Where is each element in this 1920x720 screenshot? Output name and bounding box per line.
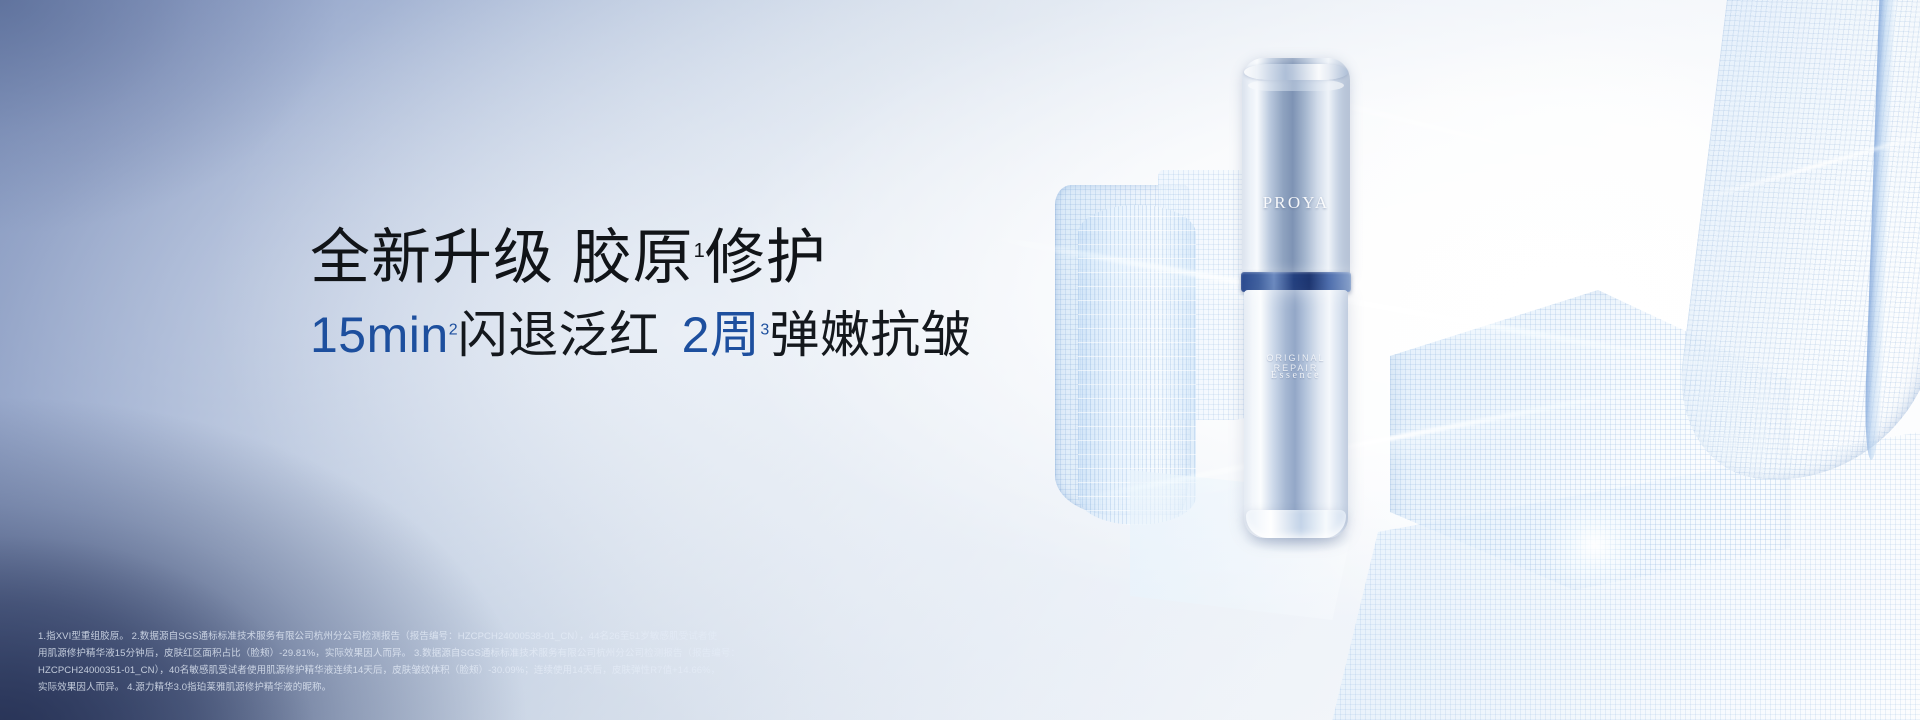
- mesh-cylinder: [1078, 205, 1196, 525]
- bottle-base: [1246, 510, 1346, 538]
- product-banner: PROYA ORIGINAL REPAIR Essence 全新升级 胶原1修护…: [0, 0, 1920, 720]
- bottle-label-line-2: Essence: [1242, 370, 1350, 381]
- footnote-line: 用肌源修护精华液15分钟后，皮肤红区面积占比（脸颊）-29.81%，实际效果因人…: [38, 645, 918, 662]
- footnote-line: HZCPCH24000351-01_CN），40名敏感肌受试者使用肌源修护精华液…: [38, 662, 918, 679]
- footnote-line: 实际效果因人而异。 4.源力精华3.0指珀莱雅肌源修护精华液的昵称。: [38, 679, 918, 696]
- claim-1-footnote-marker: 2: [449, 321, 458, 338]
- mesh-ribbon-bottom: [1330, 430, 1920, 720]
- claim-2-footnote-marker: 3: [760, 321, 769, 338]
- product-bottle: PROYA ORIGINAL REPAIR Essence: [1242, 58, 1350, 538]
- bottle-blue-band: [1241, 272, 1351, 292]
- headline-tail: 修护: [705, 224, 827, 291]
- mesh-ribbon-right-edge: [1863, 0, 1896, 460]
- light-beam-lower: [1065, 381, 1675, 504]
- mesh-ribbon-right: [1669, 0, 1920, 484]
- claim-2-label: 弹嫩抗皱: [769, 307, 971, 363]
- claim-1-label: 闪退泛红: [458, 307, 660, 363]
- light-beam-upper: [985, 234, 1734, 372]
- claim-1-value: 15min: [310, 307, 449, 363]
- light-beam-right: [1685, 119, 1920, 206]
- footnotes: 1.指XVI型重组胶原。 2.数据源自SGS通标标准技术服务有限公司杭州分公司检…: [38, 628, 918, 696]
- mesh-ribbon-left: [1055, 185, 1190, 515]
- bottle-brand-mark: PROYA: [1242, 193, 1350, 213]
- background-glow: [1120, 0, 1920, 720]
- copy-block: 全新升级 胶原1修护 15min2闪退泛红2周3弹嫩抗皱: [310, 228, 971, 360]
- footnote-line: 1.指XVI型重组胶原。 2.数据源自SGS通标标准技术服务有限公司杭州分公司检…: [38, 628, 918, 645]
- bottle-cap-ring-inner: [1248, 80, 1344, 91]
- headline-footnote-marker: 1: [694, 240, 705, 262]
- claim-2-value: 2周: [682, 307, 761, 363]
- mesh-ribbon-center: [1390, 290, 1790, 590]
- headline-main: 全新升级 胶原: [310, 224, 694, 291]
- light-beam-lower-glow: [1064, 379, 1676, 517]
- bottle-cap-ring: [1244, 64, 1348, 80]
- light-beam-upper-glow: [984, 233, 1736, 387]
- subheadline: 15min2闪退泛红2周3弹嫩抗皱: [310, 310, 971, 360]
- bottle-body: [1244, 290, 1348, 538]
- headline: 全新升级 胶原1修护: [310, 228, 971, 288]
- lens-flare: [1520, 470, 1670, 620]
